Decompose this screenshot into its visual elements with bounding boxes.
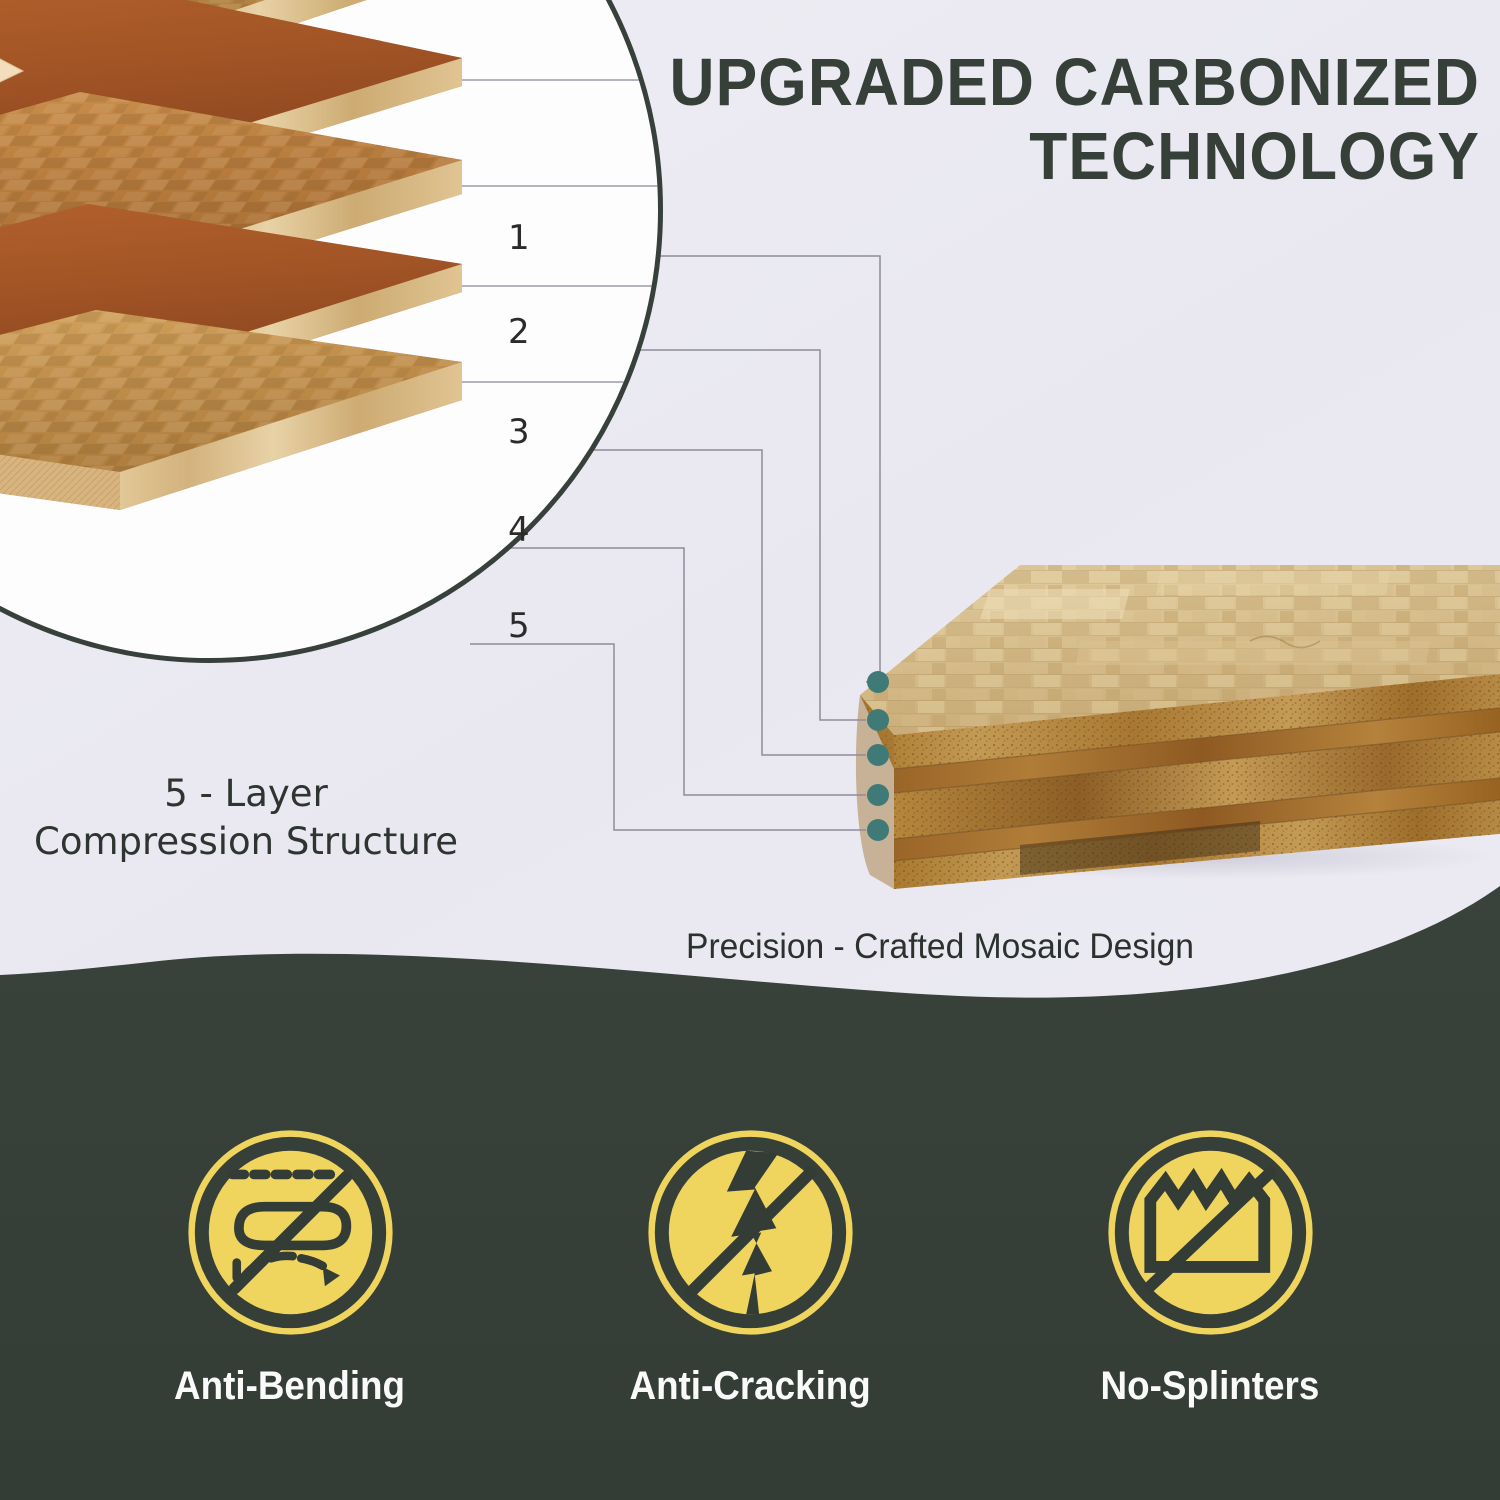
product-infographic: 1 2 3 4 5 UPGRADED CARBONIZED TECHNOLOGY… — [0, 0, 1500, 1500]
feature-label: Anti-Cracking — [629, 1364, 870, 1409]
layer-marker-5 — [867, 819, 889, 841]
layer-number-2: 2 — [508, 312, 530, 352]
feature-no-splinters: No-Splinters — [1060, 1125, 1360, 1409]
layer-marker-1 — [867, 671, 889, 693]
no-cracking-icon — [643, 1125, 858, 1340]
feature-label: Anti-Bending — [175, 1364, 406, 1409]
layer-marker-2 — [867, 709, 889, 731]
no-splinters-icon — [1103, 1125, 1318, 1340]
five-layer-hero-circle — [0, 0, 663, 663]
layer-number-4: 4 — [508, 510, 530, 550]
layer-number-3: 3 — [508, 412, 530, 452]
layer-number-1: 1 — [508, 218, 530, 258]
feature-row: Anti-Bending Anti-Cracking No-Splinters — [0, 1125, 1500, 1455]
feature-anti-bending: Anti-Bending — [140, 1125, 440, 1409]
feature-label: No-Splinters — [1101, 1364, 1320, 1409]
layer-marker-4 — [867, 784, 889, 806]
exploded-board-stack — [0, 0, 663, 663]
right-caption: Precision - Crafted Mosaic Design — [575, 927, 1305, 967]
page-title: UPGRADED CARBONIZED TECHNOLOGY — [662, 46, 1480, 193]
no-bending-icon — [183, 1125, 398, 1340]
left-caption: 5 - Layer Compression Structure — [16, 770, 476, 866]
layer-number-5: 5 — [508, 606, 530, 646]
feature-anti-cracking: Anti-Cracking — [600, 1125, 900, 1409]
layer-marker-3 — [867, 744, 889, 766]
board-layer-5 — [0, 310, 462, 510]
